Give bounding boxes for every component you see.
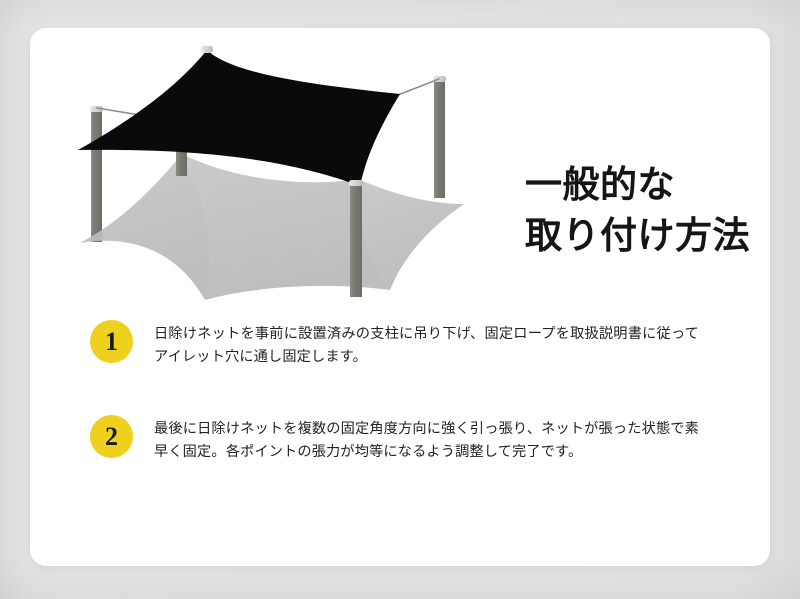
page-title-line-1: 一般的な [525, 161, 770, 210]
instruction-step-2: 2 最後に日除けネットを複数の固定角度方向に強く引っ張り、ネットが張った状態で素… [90, 413, 730, 464]
page-title-line-2: 取り付け方法 [525, 212, 770, 261]
step-number-badge-2: 2 [90, 415, 133, 458]
content-card: 一般的な 取り付け方法 1 日除けネットを事前に設置済みの支柱に吊り下げ、固定ロ… [30, 28, 770, 566]
page-title: 一般的な 取り付け方法 [525, 161, 770, 261]
post-top-rear [201, 46, 213, 53]
step-description-2: 最後に日除けネットを複数の固定角度方向に強く引っ張り、ネットが張った状態で素早く… [154, 413, 699, 464]
shade-sail [78, 50, 400, 186]
post-back-left [90, 106, 103, 242]
post-front-center [349, 180, 363, 297]
step-description-1: 日除けネットを事前に設置済みの支柱に吊り下げ、固定ロープを取扱説明書に従ってアイ… [154, 318, 699, 369]
step-number-badge-1: 1 [90, 320, 133, 363]
instruction-step-1: 1 日除けネットを事前に設置済みの支柱に吊り下げ、固定ロープを取扱説明書に従って… [90, 318, 730, 369]
shade-sail-illustration [60, 38, 490, 333]
post-back-right [433, 76, 446, 198]
